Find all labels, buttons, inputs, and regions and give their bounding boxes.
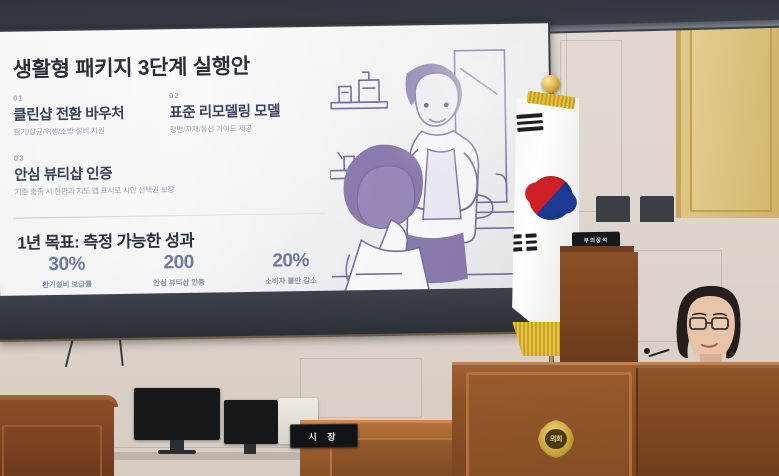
monitor-base	[158, 450, 196, 454]
door-panel	[690, 18, 772, 212]
slide-section-01: 01 클린샵 전환 바우처 환기/살균/위생/소방 설비 지원	[13, 91, 164, 137]
screen-canvas: 생활형 패키지 3단계 실행안 01 클린샵 전환 바우처 환기/살균/위생/소…	[0, 23, 552, 298]
council-emblem-text: 의회	[545, 429, 567, 449]
section-heading: 표준 리모델링 모델	[169, 99, 329, 123]
nameplate-mayor: 시 장	[290, 424, 358, 449]
metric-item: 200 안심 뷰티샵 인증 200곳 인증 목표	[126, 252, 233, 298]
monitor-secondary	[224, 400, 278, 444]
section-subtitle: 평면/자재/동선 가이드 제공	[170, 122, 330, 136]
chair-back	[640, 196, 674, 222]
screen-bottom-frame	[0, 287, 555, 342]
metric-value: 200	[126, 252, 232, 274]
section-heading: 안심 뷰티샵 인증	[14, 159, 314, 185]
podium-side-column	[560, 252, 638, 372]
monitor-stand	[244, 444, 256, 454]
monitor-primary	[134, 388, 220, 440]
metric-label: 소비자 불만 감소	[238, 274, 344, 287]
chair-back	[596, 196, 630, 222]
metric-value: 20%	[238, 251, 344, 273]
metric-item: 30% 환기설비 보급률 1년 안에 30%포인트 상승	[14, 254, 121, 298]
podium-right-side	[636, 368, 779, 476]
taeguk-symbol	[521, 168, 581, 228]
trigram-gon	[511, 233, 538, 254]
section-heading: 클린샵 전환 바우처	[13, 101, 163, 124]
screenshot-root: 생활형 패키지 3단계 실행안 01 클린샵 전환 바우처 환기/살균/위생/소…	[0, 0, 779, 476]
presentation-slide: 생활형 패키지 3단계 실행안 01 클린샵 전환 바우처 환기/살균/위생/소…	[0, 23, 552, 298]
flag-finial	[542, 75, 560, 93]
microphone-head	[644, 348, 650, 354]
section-subtitle: 기준 충족 시 현판과 지도 앱 표시로 시민 선택권 보장	[14, 182, 314, 198]
slide-section-03: 03 안심 뷰티샵 인증 기준 충족 시 현판과 지도 앱 표시로 시민 선택권…	[14, 149, 315, 198]
slide-goal-title: 1년 목표: 측정 가능한 성과	[17, 227, 194, 254]
slide-section-02: 02 표준 리모델링 모델 평면/자재/동선 가이드 제공	[169, 89, 330, 136]
slide-title: 생활형 패키지 3단계 실행안	[12, 50, 250, 84]
wall-panel	[300, 358, 422, 418]
section-subtitle: 환기/살균/위생/소방 설비 지원	[14, 124, 164, 137]
trigram-geon	[516, 113, 543, 134]
metric-label: 안심 뷰티샵 인증	[126, 276, 232, 289]
metric-label: 환기설비 보급률	[14, 278, 120, 291]
left-desk-panel	[2, 425, 102, 476]
slide-divider	[13, 213, 325, 219]
metric-value: 30%	[14, 254, 120, 276]
